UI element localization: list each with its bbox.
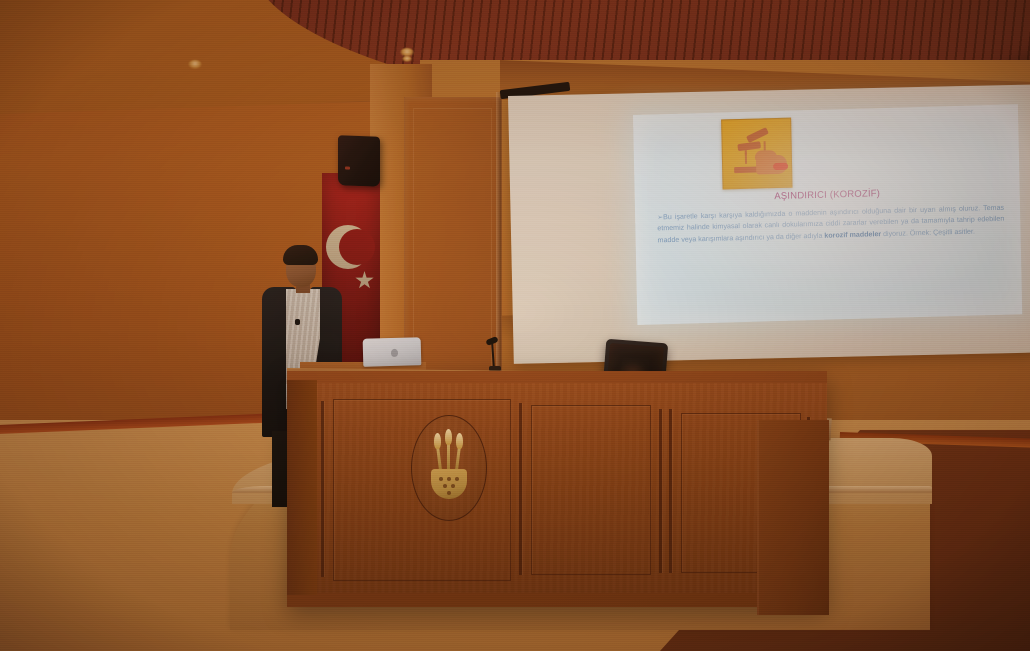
desk-front-face [287, 383, 827, 593]
desk-right-end [757, 420, 829, 615]
test-tube-icon [737, 141, 761, 151]
desk-left-return [287, 380, 317, 595]
eroded-surface-icon [734, 167, 758, 174]
slide-content: AŞINDIRICI (KOROZİF) ➢Bu işaretle karşı … [633, 104, 1022, 325]
downlight-icon [188, 60, 202, 69]
podium-desk [287, 371, 827, 607]
desk-groove [519, 403, 522, 575]
emblem-dot [439, 477, 443, 481]
door-inner-frame [413, 108, 492, 383]
emblem-flame [456, 433, 463, 449]
emblem-flame [434, 433, 441, 449]
laptop[interactable] [363, 337, 422, 369]
desk-groove [659, 409, 662, 573]
slide-title: AŞINDIRICI (KOROZİF) [635, 184, 1020, 206]
desk-groove [669, 409, 672, 573]
laptop-lid [363, 337, 422, 367]
corrosive-hazard-pictogram-icon [721, 118, 792, 190]
desk-panel [531, 405, 651, 575]
desk-groove [321, 401, 324, 577]
emblem-dot [443, 484, 447, 488]
emblem-dot [451, 484, 455, 488]
burn-mark-icon [773, 163, 788, 170]
hair [283, 245, 318, 265]
slide-body-part2: diyoruz. Örnek: Çeşitli asitler. [881, 227, 975, 238]
downlight-icon [402, 56, 412, 62]
drip-icon [745, 152, 747, 155]
presentation-room-photo: AŞINDIRICI (KOROZİF) ➢Bu işaretle karşı … [0, 0, 1030, 651]
emblem-dot [455, 477, 459, 481]
laptop-logo-icon [391, 349, 398, 357]
emblem-flame [445, 429, 452, 445]
institutional-emblem-icon [429, 431, 469, 503]
slide-body-text: ➢Bu işaretle karşı karşıya kaldığımızda … [657, 203, 1005, 247]
wall-speaker [338, 135, 380, 186]
emblem-dot [447, 477, 451, 481]
speaker-led-icon [345, 167, 350, 170]
slide-body-bold: korozif maddeler [824, 230, 881, 240]
emblem-dot [447, 491, 451, 495]
lapel-microphone-icon [295, 319, 300, 325]
projected-slide: AŞINDIRICI (KOROZİF) ➢Bu işaretle karşı … [633, 104, 1022, 325]
